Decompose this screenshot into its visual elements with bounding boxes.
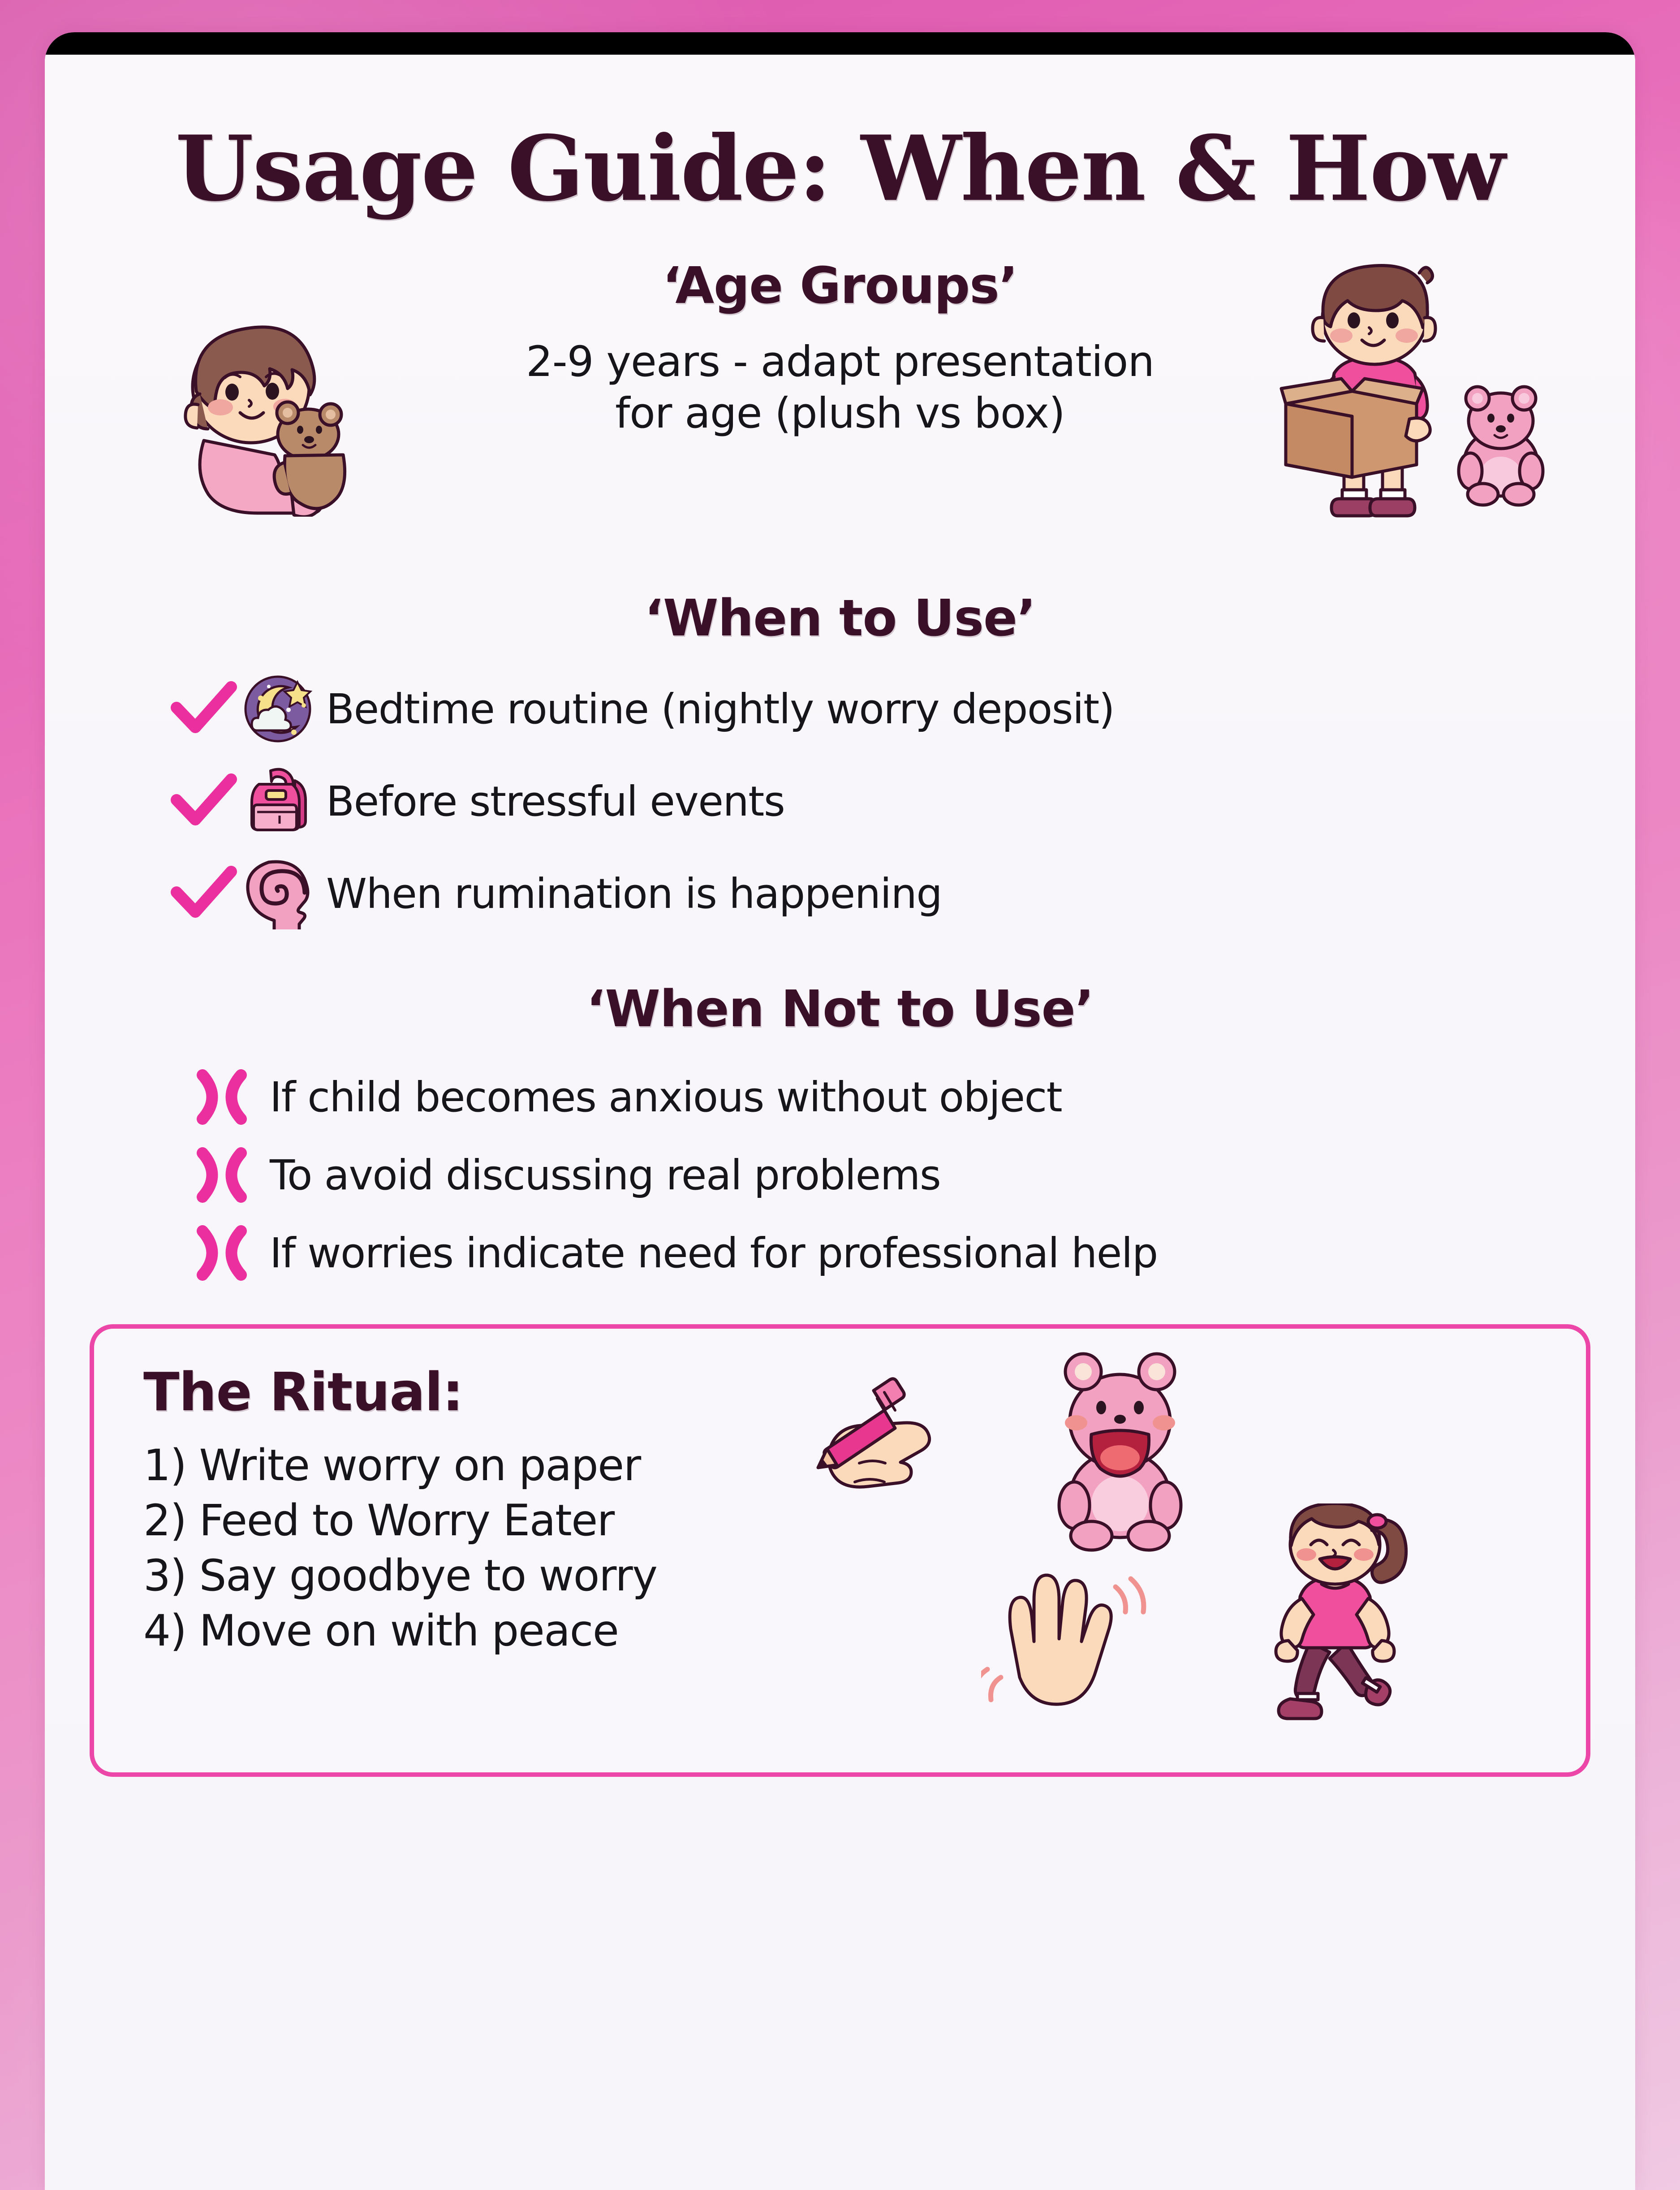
list-item-label: Before stressful events	[326, 778, 784, 825]
list-item-label: Bedtime routine (nightly worry deposit)	[326, 685, 1114, 733]
check-icon	[170, 772, 237, 830]
page-title: Usage Guide: When & How	[45, 124, 1635, 214]
list-item-label: If worries indicate need for professiona…	[270, 1229, 1158, 1277]
head-spiral-icon	[242, 858, 314, 929]
content-card: Usage Guide: When & How	[45, 32, 1635, 2190]
backpack-icon	[242, 765, 314, 837]
card-body: Usage Guide: When & How	[45, 55, 1635, 2190]
cross-icon	[193, 1146, 251, 1204]
list-item-label: When rumination is happening	[326, 870, 942, 918]
cross-icon	[193, 1224, 251, 1282]
boy-with-box-and-pink-bear-illustration	[1277, 261, 1555, 526]
ritual-panel: The Ritual: 1) Write worry on paper 2) F…	[90, 1324, 1590, 1777]
pink-bear-open-mouth-illustration	[1026, 1342, 1214, 1553]
list-item: To avoid discussing real problems	[45, 1140, 1635, 1210]
when-to-use-list: Bedtime routine (nightly worry deposit)	[45, 671, 1635, 932]
check-icon	[170, 864, 237, 923]
hand-writing-with-pencil-illustration	[802, 1360, 990, 1530]
list-item: When rumination is happening	[45, 855, 1635, 932]
section-when-to-use: ‘When to Use’	[45, 589, 1635, 932]
section-when-not-to-use: ‘When Not to Use’ If child becomes anxio…	[45, 980, 1635, 1288]
waving-hand-illustration	[981, 1535, 1151, 1736]
walking-happy-girl-illustration	[1241, 1503, 1429, 1736]
section-age-groups: ‘Age Groups’ 2-9 years - adapt presentat…	[45, 257, 1635, 535]
list-item-label: If child becomes anxious without object	[270, 1073, 1062, 1121]
cross-icon	[193, 1068, 251, 1126]
when-to-use-heading: ‘When to Use’	[45, 589, 1635, 648]
list-item: Bedtime routine (nightly worry deposit)	[45, 671, 1635, 747]
card-top-bar	[45, 32, 1635, 55]
list-item: If child becomes anxious without object	[45, 1062, 1635, 1132]
list-item: Before stressful events	[45, 763, 1635, 839]
baby-with-teddy-bear-illustration	[157, 311, 363, 517]
list-item: If worries indicate need for professiona…	[45, 1218, 1635, 1288]
night-moon-icon	[242, 673, 314, 745]
when-not-to-use-list: If child becomes anxious without object …	[45, 1062, 1635, 1288]
check-icon	[170, 680, 237, 738]
when-not-to-use-heading: ‘When Not to Use’	[45, 980, 1635, 1038]
list-item-label: To avoid discussing real problems	[270, 1151, 940, 1199]
